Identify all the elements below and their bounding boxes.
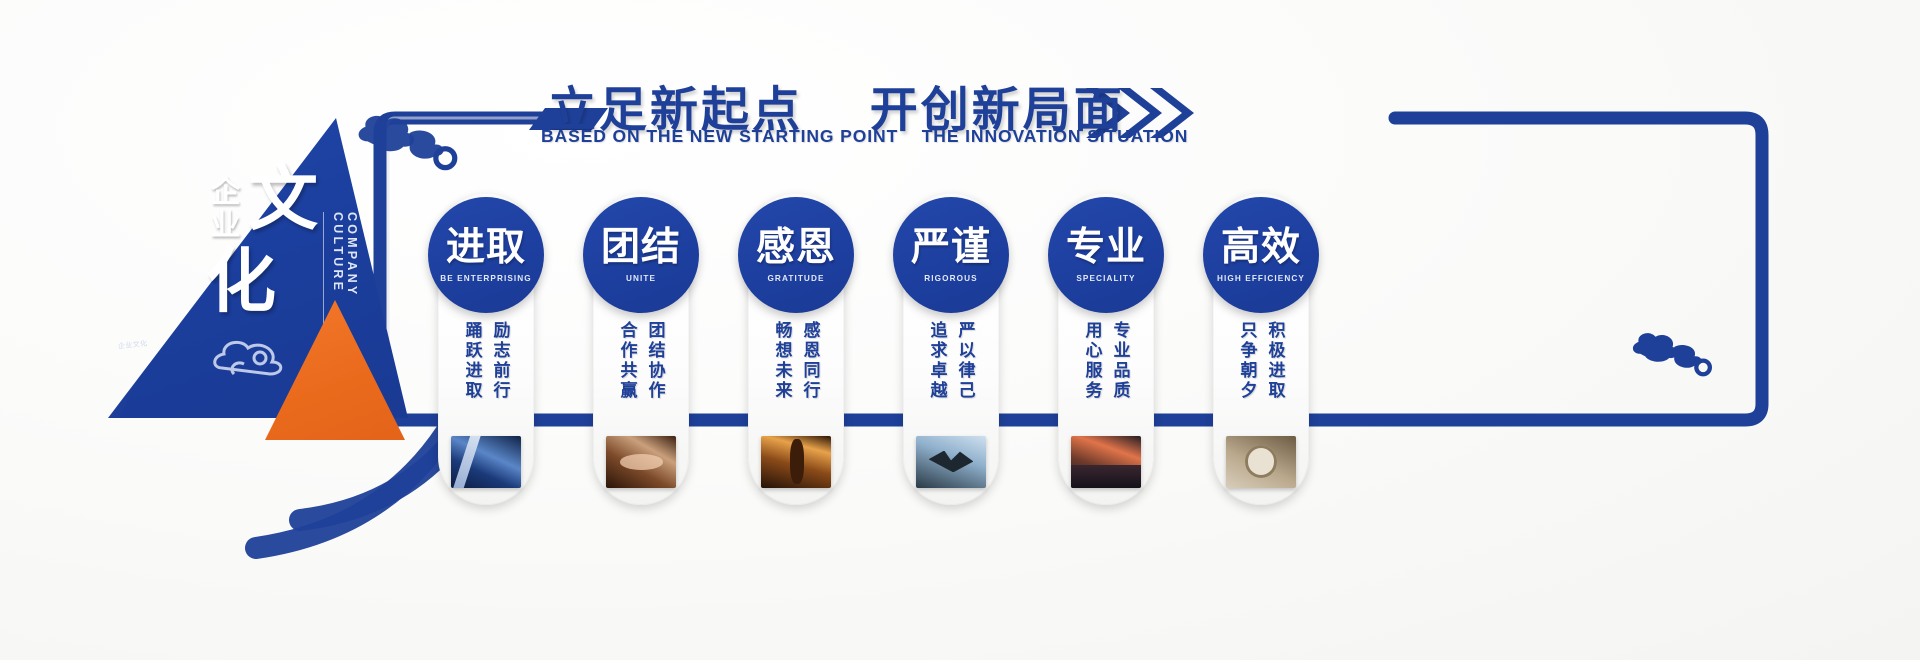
pillar-slogan-line2: 合作共赢 [615, 321, 640, 433]
page-subtitle: BASED ON THE NEW STARTING POINT THE INNO… [541, 126, 1188, 147]
pillar-slogan: 积极进取只争朝夕 [1213, 321, 1309, 433]
pillar-badge: 进取BE ENTERPRISING [428, 197, 544, 313]
pillar-slogan-line1: 励志前行 [488, 321, 513, 433]
pillar-slogan-line1: 积极进取 [1263, 321, 1288, 433]
subhead-left: BASED ON THE NEW STARTING POINT [541, 126, 898, 146]
pillar-title-cn: 高效 [1221, 227, 1301, 269]
pillar-title-cn: 感恩 [756, 227, 836, 269]
photo-runner [1071, 436, 1141, 488]
pillar-card-unite[interactable]: 团结UNITE团结协作合作共赢 [593, 193, 689, 505]
pillar-title-en: GRATITUDE [767, 274, 824, 283]
photo-sunrise-figure [761, 436, 831, 488]
pillar-card-speciality[interactable]: 专业SPECIALITY专业品质用心服务 [1058, 193, 1154, 505]
logo-cn-wen: 文 [248, 164, 318, 234]
pillar-title-en: RIGOROUS [924, 274, 977, 283]
pillar-slogan-line1: 感恩同行 [798, 321, 823, 433]
pillar-slogan-line1: 专业品质 [1108, 321, 1133, 433]
photo-eagle [916, 436, 986, 488]
pillar-slogan: 励志前行踊跃进取 [438, 321, 534, 433]
pillar-card-rigorous[interactable]: 严谨RIGOROUS严以律己追求卓越 [903, 193, 999, 505]
pillar-slogan: 专业品质用心服务 [1058, 321, 1154, 433]
photo-stopwatch [1226, 436, 1296, 488]
pillar-slogan-line2: 畅想未来 [770, 321, 795, 433]
pillar-card-be-enterprising[interactable]: 进取BE ENTERPRISING励志前行踊跃进取 [438, 193, 534, 505]
pillar-slogan-line1: 严以律己 [953, 321, 978, 433]
pillar-title-cn: 团结 [601, 227, 681, 269]
pillar-badge: 感恩GRATITUDE [738, 197, 854, 313]
pillar-slogan-line2: 踊跃进取 [460, 321, 485, 433]
subhead-right: THE INNOVATION SITUATION [922, 126, 1189, 146]
pillar-slogan-line2: 追求卓越 [925, 321, 950, 433]
photo-climbing [451, 436, 521, 488]
pillar-title-en: BE ENTERPRISING [440, 274, 532, 283]
pillar-badge: 高效HIGH EFFICIENCY [1203, 197, 1319, 313]
pillar-badge: 团结UNITE [583, 197, 699, 313]
pillar-badge: 专业SPECIALITY [1048, 197, 1164, 313]
pillar-card-gratitude[interactable]: 感恩GRATITUDE感恩同行畅想未来 [748, 193, 844, 505]
pillar-title-en: UNITE [626, 274, 656, 283]
pillar-badge: 严谨RIGOROUS [893, 197, 1009, 313]
pillar-title-cn: 进取 [446, 227, 526, 269]
logo-cn-hua: 化 [206, 246, 276, 316]
pillar-slogan-line2: 用心服务 [1080, 321, 1105, 433]
logo-cn-small: 企业 [206, 176, 246, 242]
logo-watermark: 企业文化 [118, 338, 148, 351]
pillar-slogan: 严以律己追求卓越 [903, 321, 999, 433]
pillar-slogan-line1: 团结协作 [643, 321, 668, 433]
pillar-title-cn: 严谨 [911, 227, 991, 269]
pillar-slogan: 感恩同行畅想未来 [748, 321, 844, 433]
pillar-title-en: HIGH EFFICIENCY [1217, 274, 1305, 283]
pillar-slogan: 团结协作合作共赢 [593, 321, 689, 433]
pillar-title-cn: 专业 [1066, 227, 1146, 269]
pillar-title-en: SPECIALITY [1076, 274, 1135, 283]
pillar-slogan-line2: 只争朝夕 [1235, 321, 1260, 433]
photo-handshake [606, 436, 676, 488]
pillar-card-high-efficiency[interactable]: 高效HIGH EFFICIENCY积极进取只争朝夕 [1213, 193, 1309, 505]
